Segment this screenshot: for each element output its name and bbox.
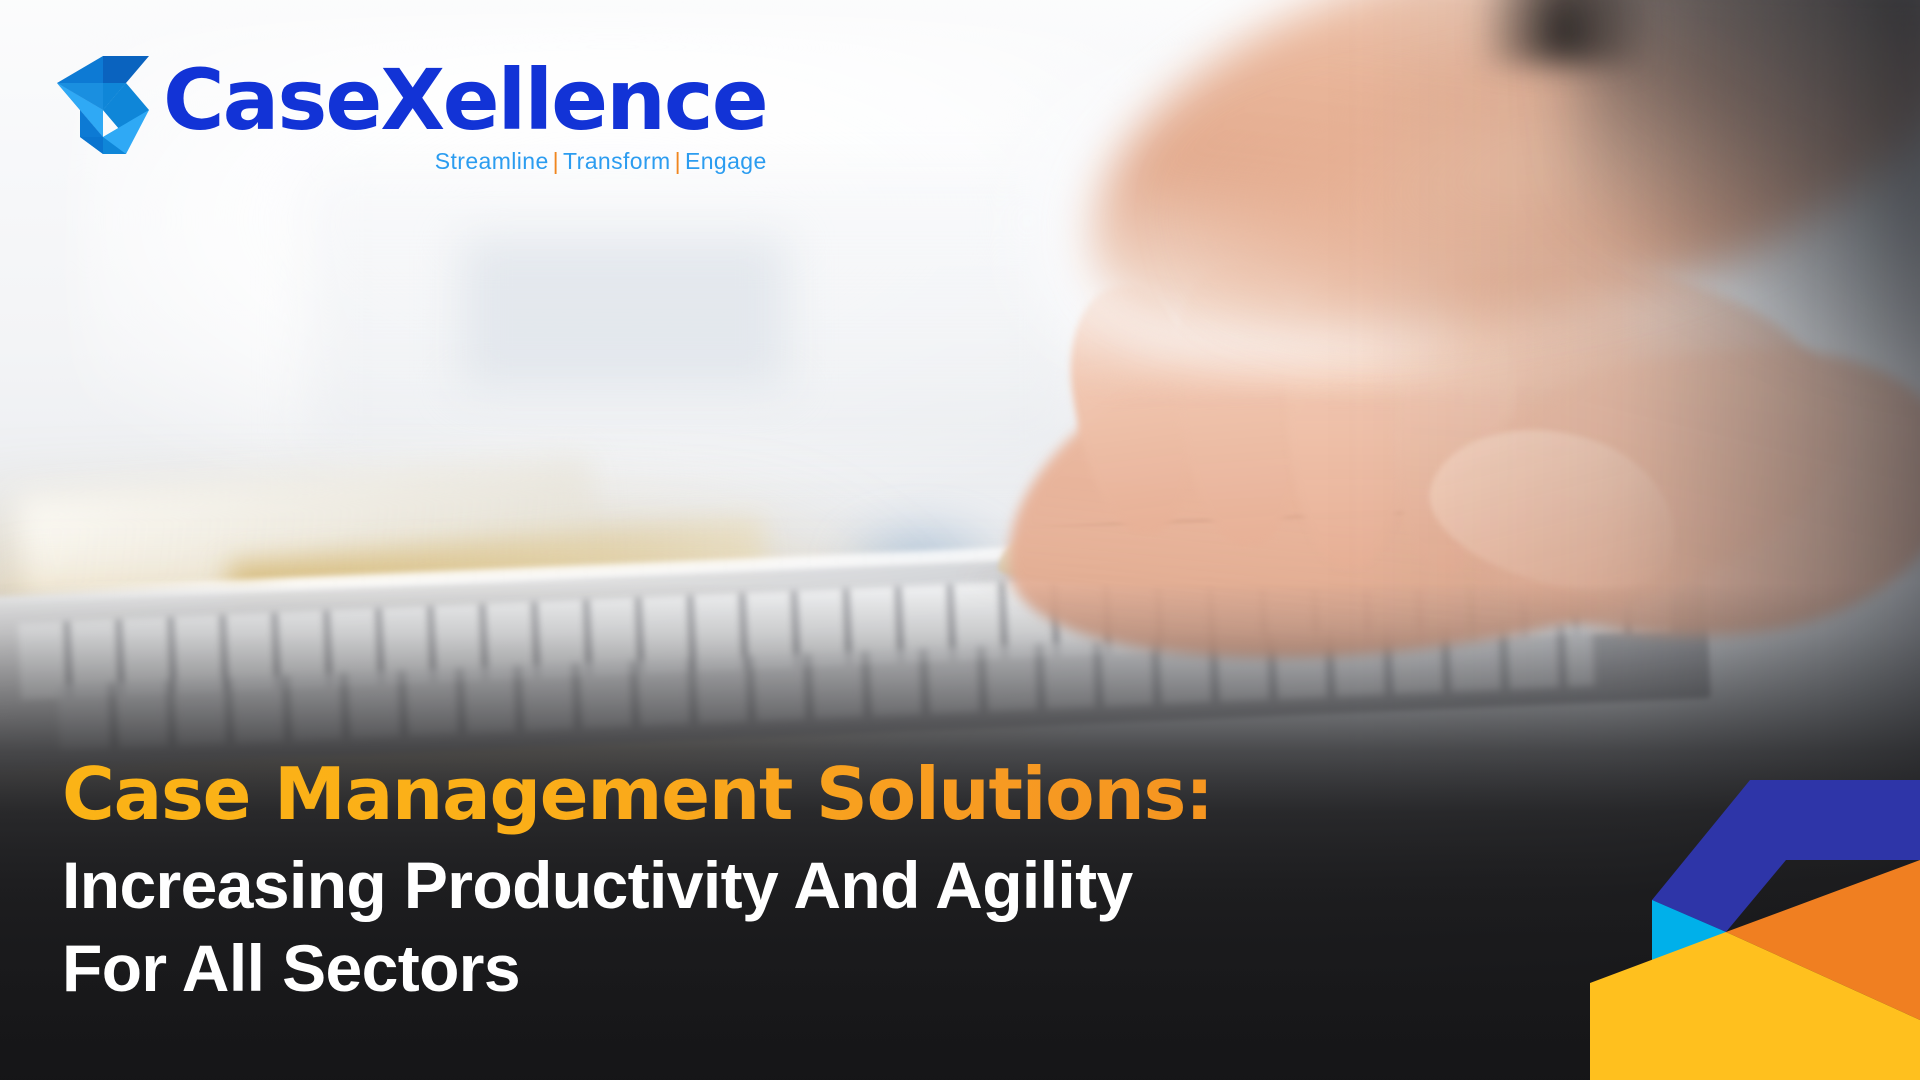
tagline-streamline: Streamline [435, 148, 549, 174]
logo-wordmark: CaseXellence [163, 62, 767, 139]
tagline-separator-1: | [549, 148, 563, 174]
logo-word-x: X [380, 51, 442, 149]
bg-monitor-inner [461, 238, 787, 389]
tagline-engage: Engage [685, 148, 767, 174]
logo-word-ellence: ellence [443, 51, 767, 149]
headline-line-1: Increasing Productivity And Agility [62, 844, 1482, 927]
tagline-transform: Transform [563, 148, 671, 174]
headline-main: Increasing Productivity And Agility For … [62, 844, 1482, 1010]
logo-word-case: Case [163, 51, 380, 149]
tagline-separator-2: | [671, 148, 685, 174]
logo-tagline: Streamline|Transform|Engage [435, 148, 767, 175]
headline-line-2: For All Sectors [62, 927, 1482, 1010]
headline-block: Case Management Solutions: Increasing Pr… [62, 754, 1482, 1010]
casexellence-chevron-mark [55, 50, 151, 160]
logo-text-block: CaseXellence Streamline|Transform|Engage [163, 50, 767, 175]
hero-banner: CaseXellence Streamline|Transform|Engage… [0, 0, 1920, 1080]
headline-accent-line: Case Management Solutions: [62, 754, 1482, 835]
brand-logo[interactable]: CaseXellence Streamline|Transform|Engage [55, 50, 767, 175]
